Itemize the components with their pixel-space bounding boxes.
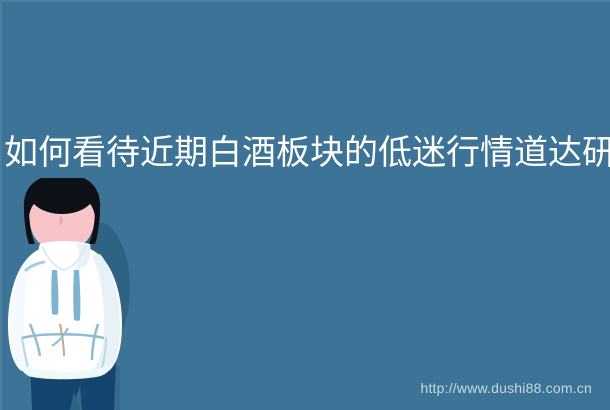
person-illustration [0, 178, 180, 410]
watermark-url: http://www.dushi88.com.cn [420, 380, 592, 396]
image-canvas: 如何看待近期白酒板块的低迷行情道达研选 http://www.dushi88.c… [0, 0, 610, 410]
page-title: 如何看待近期白酒板块的低迷行情道达研选 [4, 133, 610, 173]
person-illustration-svg [0, 178, 180, 410]
hoodie [8, 241, 122, 379]
